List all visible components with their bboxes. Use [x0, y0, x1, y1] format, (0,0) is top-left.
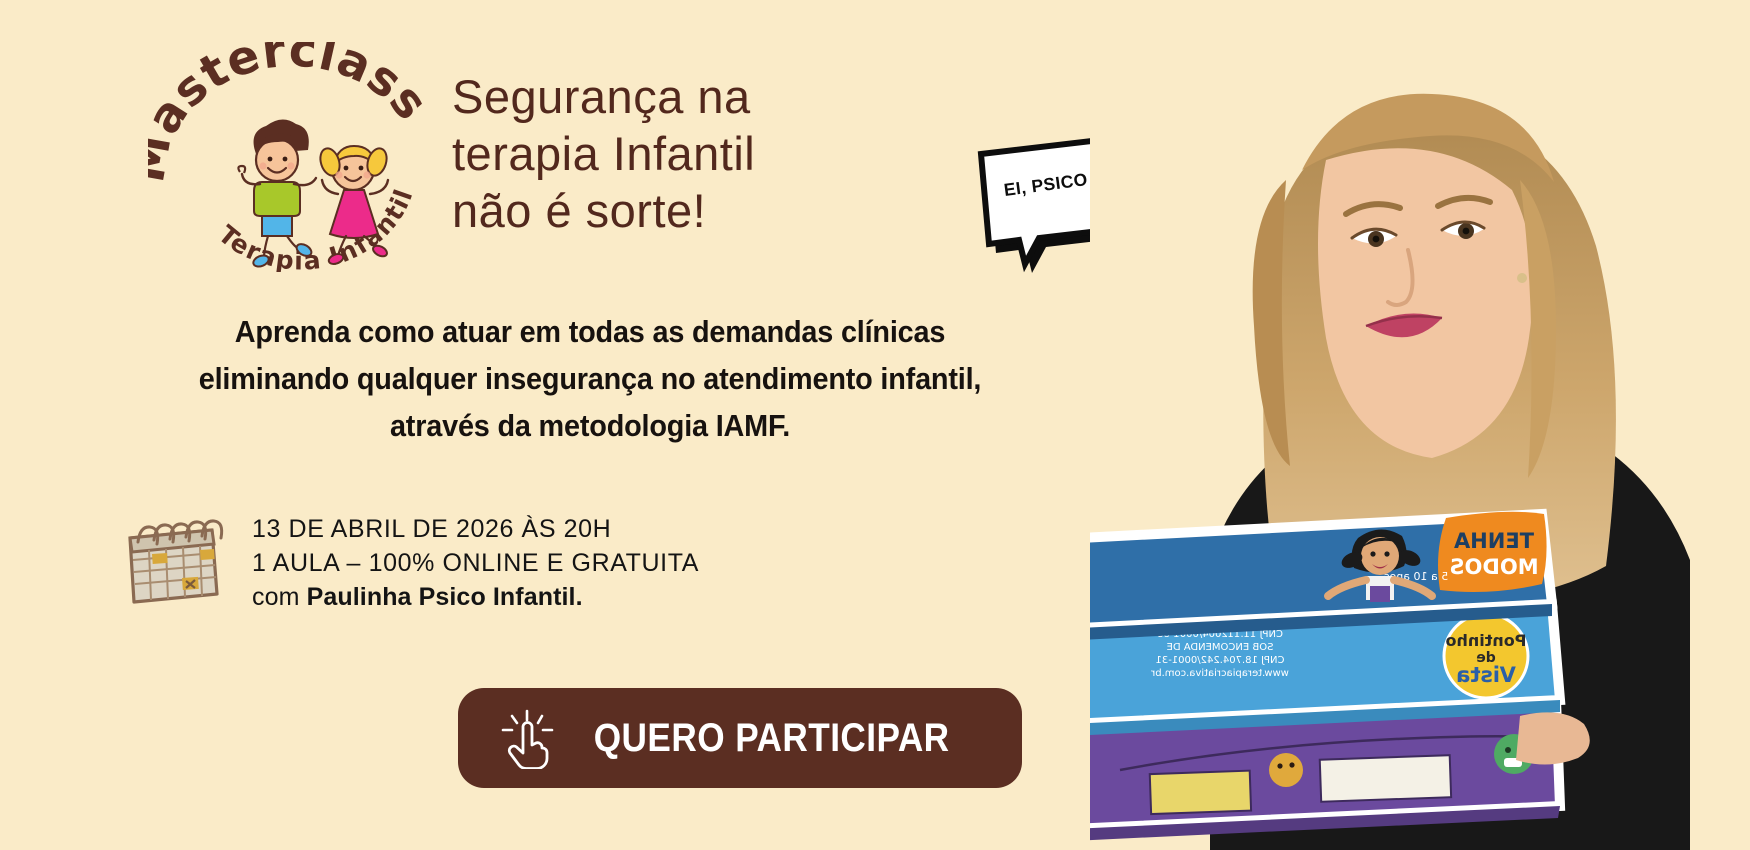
promo-banner: Masterclass Terapia Infantil [0, 0, 1750, 850]
svg-text:MODOS: MODOS [1449, 555, 1538, 579]
svg-text:Vista: Vista [1456, 663, 1516, 687]
cta-label: QUERO PARTICIPAR [588, 716, 995, 761]
quero-participar-button[interactable]: QUERO PARTICIPAR [458, 688, 1022, 788]
svg-text:TENHA: TENHA [1453, 529, 1534, 553]
svg-text:CNPJ 18.704.242/0001-31: CNPJ 18.704.242/0001-31 [1155, 655, 1284, 666]
svg-text:Terapia Infantil: Terapia Infantil [213, 184, 419, 272]
svg-text:SOB ENCOMENDA DE: SOB ENCOMENDA DE [1167, 642, 1274, 653]
presenter-photo-graphic: Pontinho de Vista FABRICADO POR CNPJ 11.… [1090, 0, 1750, 850]
click-hand-icon [498, 707, 560, 769]
subheadline-line-1: Aprenda como atuar em todas as demandas … [97, 308, 1083, 355]
calendar-icon [118, 508, 226, 606]
svg-text:Pontinho: Pontinho [1445, 631, 1526, 650]
subheadline-line-3: através da metodologia IAMF. [97, 402, 1083, 449]
masterclass-logo: Masterclass Terapia Infantil [148, 42, 448, 272]
event-format-line: 1 AULA – 100% ONLINE E GRATUITA [252, 546, 699, 580]
logo-arc-bottom-text: Terapia Infantil [213, 184, 419, 272]
event-details: 13 DE ABRIL DE 2026 ÀS 20H 1 AULA – 100%… [252, 512, 699, 614]
headline-line-1: Segurança na [452, 68, 872, 125]
svg-text:www.terapiacriativa.com.br: www.terapiacriativa.com.br [1150, 668, 1289, 679]
presenter-photo: Pontinho de Vista FABRICADO POR CNPJ 11.… [1090, 0, 1750, 850]
event-presenter-line: com Paulinha Psico Infantil. [252, 580, 699, 614]
subheadline: Aprenda como atuar em todas as demandas … [60, 308, 1120, 449]
headline: Segurança na terapia Infantil não é sort… [452, 68, 872, 239]
headline-line-3: não é sorte! [452, 182, 872, 239]
presenter-prefix: com [252, 583, 307, 611]
event-date-line: 13 DE ABRIL DE 2026 ÀS 20H [252, 512, 699, 546]
headline-line-2: terapia Infantil [452, 125, 872, 182]
logo-graphic: Masterclass Terapia Infantil [148, 42, 448, 272]
presenter-name: Paulinha Psico Infantil. [307, 583, 583, 611]
subheadline-line-2: eliminando qualquer insegurança no atend… [97, 355, 1083, 402]
calendar-icon-graphic [118, 508, 226, 606]
